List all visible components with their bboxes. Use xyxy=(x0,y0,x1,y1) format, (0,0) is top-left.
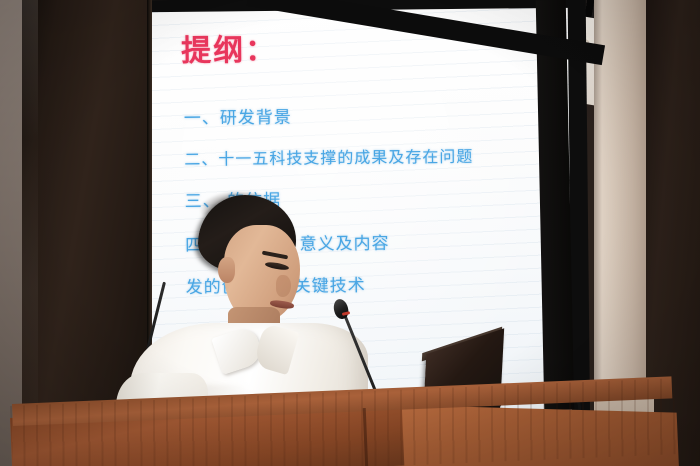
slide-title: 提纲： xyxy=(181,25,277,70)
ear xyxy=(218,257,235,283)
left-wall-sheen xyxy=(22,0,38,466)
slide-bullet-1: 一、研发背景 xyxy=(184,100,584,129)
slide-bullet-2: 二、十一五科技支撑的成果及存在问题 xyxy=(184,142,584,170)
left-beige-strip xyxy=(0,0,22,466)
podium-side-face xyxy=(366,404,680,466)
presentation-scene: 提纲： 一、研发背景 二、十一五科技支撑的成果及存在问题 三、 的依据 四、 的… xyxy=(0,0,700,466)
